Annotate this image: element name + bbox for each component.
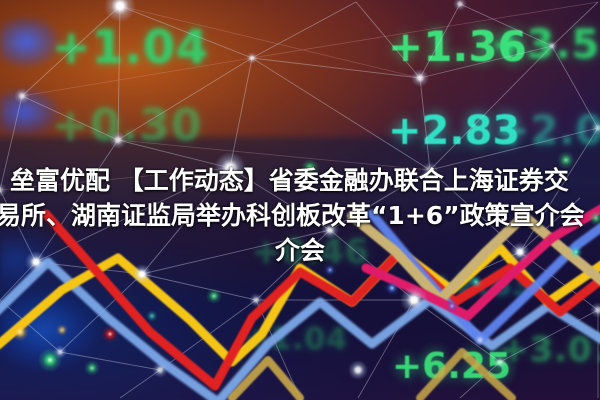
ticker-value: +2.83 <box>388 108 520 154</box>
headline: 垒富优配 【工作动态】省委金融办联合上海证券交 易所、湖南证监局举办科创板改革“… <box>0 163 600 268</box>
banner-image: +1.04 +0.30 +3.51 +2.07 +0.46 +3.07 +1.0… <box>0 0 600 400</box>
headline-line-3: 介会 <box>0 233 600 268</box>
ticker-value: +1.36 <box>388 22 527 71</box>
headline-line-2: 易所、湖南证监局举办科创板改革“1+6”政策宣介会 <box>0 198 600 233</box>
headline-line-1: 垒富优配 【工作动态】省委金融办联合上海证券交 <box>0 163 600 198</box>
ticker-value: +6.25 <box>392 346 511 387</box>
